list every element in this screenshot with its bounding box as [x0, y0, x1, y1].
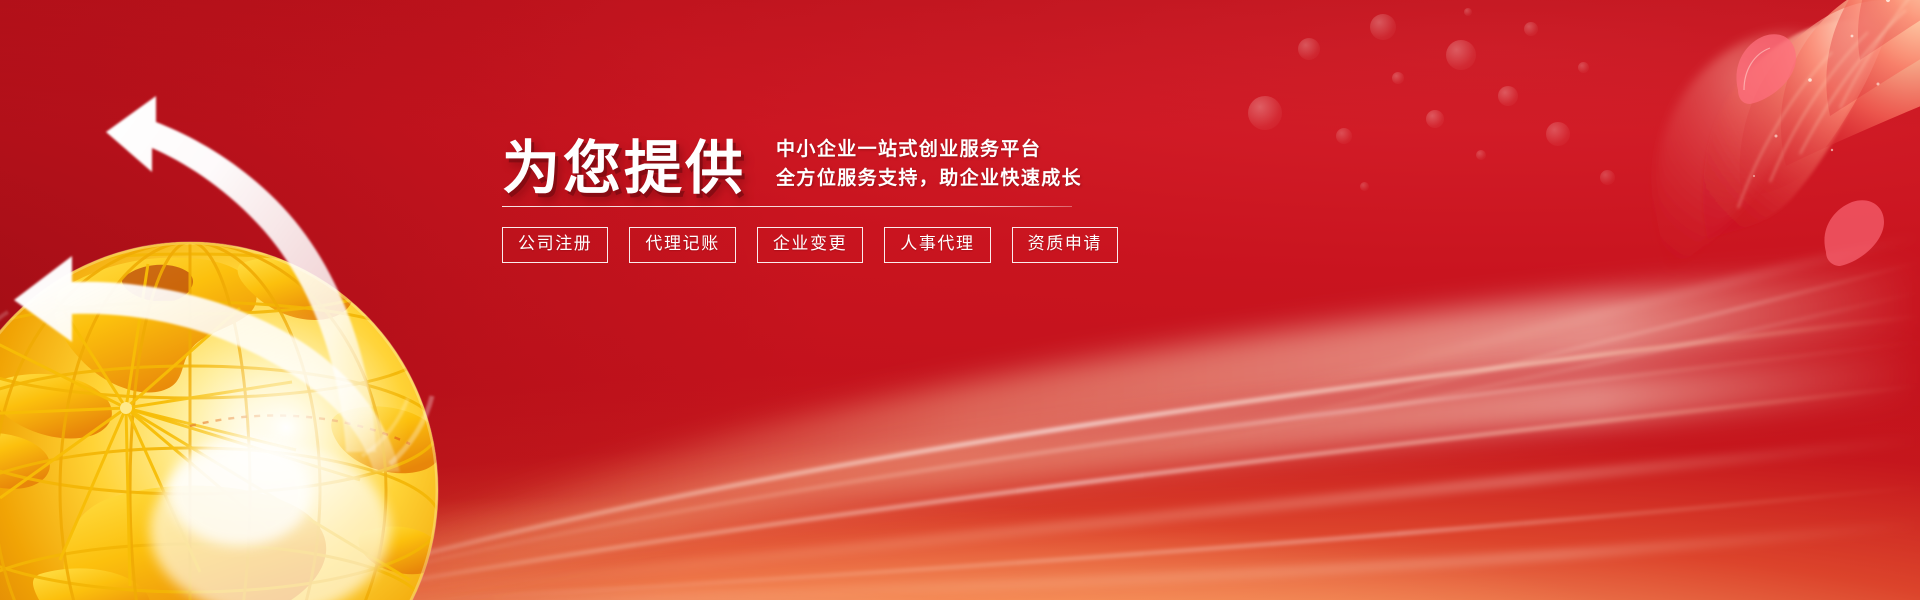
service-tag-qualification-apply[interactable]: 资质申请	[1012, 227, 1118, 263]
service-tag-list: 公司注册 代理记账 企业变更 人事代理 资质申请	[502, 227, 1082, 263]
subtitle-line-2: 全方位服务支持，助企业快速成长	[776, 164, 1082, 193]
curved-arrows-decoration	[0, 60, 450, 480]
service-tag-business-change[interactable]: 企业变更	[757, 227, 863, 263]
headline-row: 为您提供 中小企业一站式创业服务平台 全方位服务支持，助企业快速成长	[502, 135, 1082, 197]
page-title: 为您提供	[502, 139, 746, 197]
service-tag-company-registration[interactable]: 公司注册	[502, 227, 608, 263]
service-tag-agency-bookkeeping[interactable]: 代理记账	[629, 227, 735, 263]
curved-arrows-icon	[0, 60, 450, 480]
bokeh-dots-decoration	[1240, 0, 1660, 230]
divider	[502, 206, 1072, 207]
service-tag-hr-agency[interactable]: 人事代理	[884, 227, 990, 263]
promo-banner: 为您提供 中小企业一站式创业服务平台 全方位服务支持，助企业快速成长 公司注册 …	[0, 0, 1920, 600]
subtitle-line-1: 中小企业一站式创业服务平台	[776, 135, 1082, 164]
subtitle-block: 中小企业一站式创业服务平台 全方位服务支持，助企业快速成长	[776, 135, 1082, 197]
banner-content: 为您提供 中小企业一站式创业服务平台 全方位服务支持，助企业快速成长 公司注册 …	[502, 135, 1082, 263]
